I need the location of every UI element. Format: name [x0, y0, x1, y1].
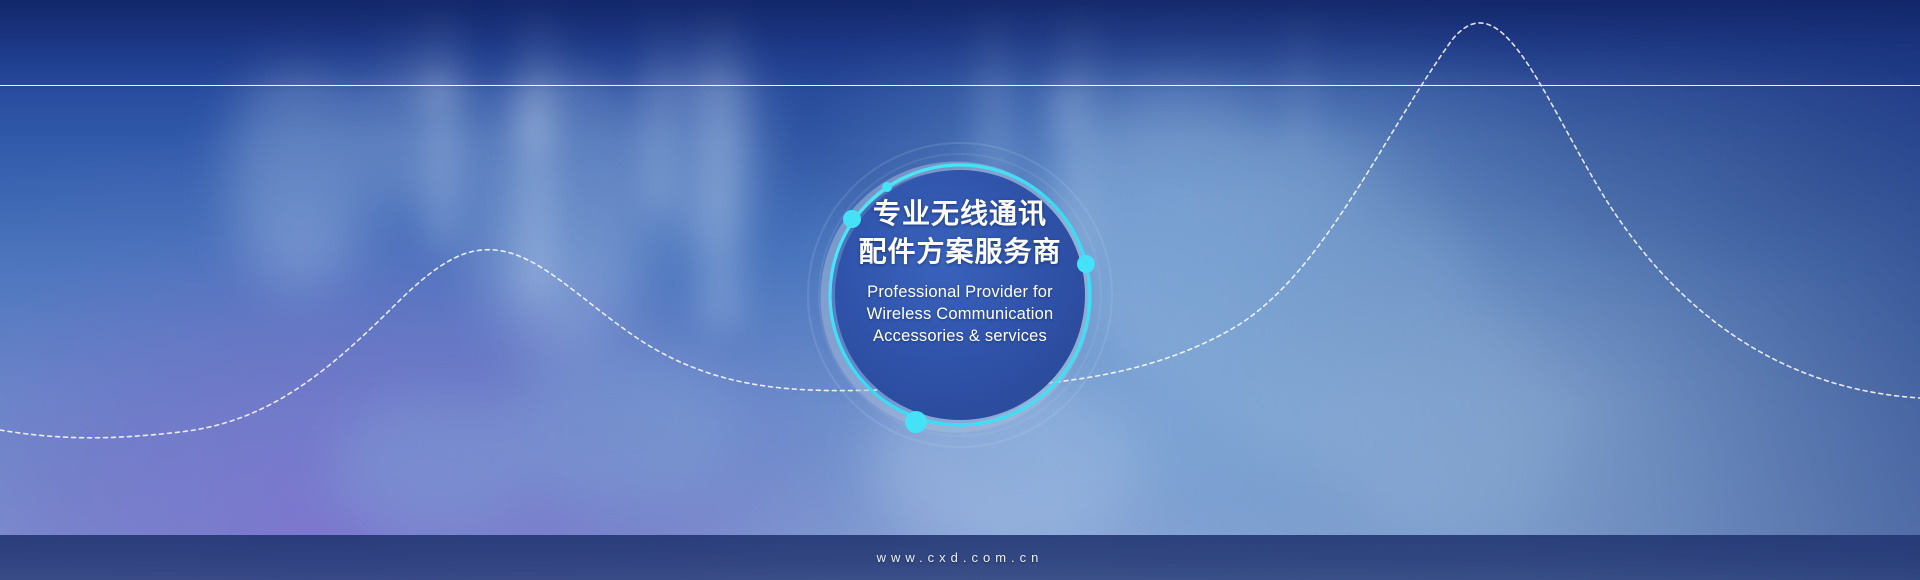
dot-right — [1077, 255, 1095, 273]
site-url-text[interactable]: www.cxd.com.cn — [877, 550, 1044, 565]
hero-banner: 专业无线通讯 配件方案服务商 Professional Provider for… — [0, 0, 1920, 580]
bottom-url-bar: www.cxd.com.cn — [0, 535, 1920, 580]
dot-bottom — [905, 411, 927, 433]
dot-upper-left — [843, 210, 861, 228]
dot-upper-small — [882, 182, 892, 192]
